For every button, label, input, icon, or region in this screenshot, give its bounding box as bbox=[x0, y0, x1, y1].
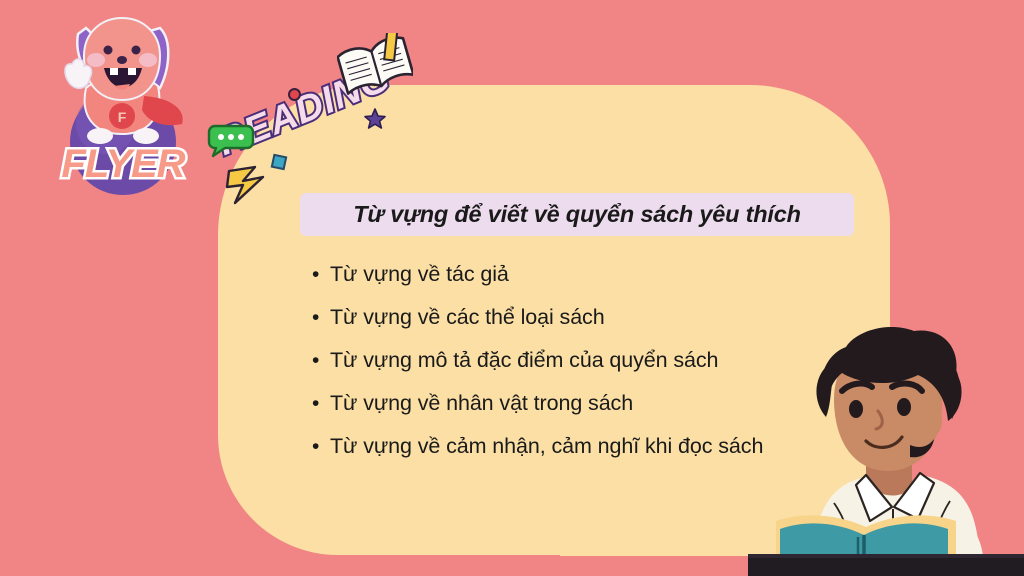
title-banner: Từ vựng để viết về quyển sách yêu thích bbox=[300, 193, 854, 236]
list-item-label: Từ vựng về các thể loại sách bbox=[330, 305, 605, 330]
list-item-label: Từ vựng về nhân vật trong sách bbox=[330, 391, 633, 416]
bullet-marker-icon: • bbox=[312, 436, 330, 457]
page-title: Từ vựng để viết về quyển sách yêu thích bbox=[353, 201, 801, 228]
desk-surface bbox=[748, 558, 1024, 576]
star-icon bbox=[364, 108, 386, 130]
bullet-marker-icon: • bbox=[312, 350, 330, 371]
bullet-marker-icon: • bbox=[312, 264, 330, 285]
list-item-label: Từ vựng mô tả đặc điểm của quyển sách bbox=[330, 348, 718, 373]
red-dot-icon bbox=[288, 88, 301, 101]
bullet-marker-icon: • bbox=[312, 393, 330, 414]
bullet-marker-icon: • bbox=[312, 307, 330, 328]
slide-canvas: Từ vựng để viết về quyển sách yêu thích … bbox=[0, 0, 1024, 576]
logo-wordmark: FLYER bbox=[61, 142, 185, 186]
list-item-label: Từ vựng về cảm nhận, cảm nghĩ khi đọc sá… bbox=[330, 434, 763, 459]
open-book-with-pencil-icon bbox=[337, 33, 413, 95]
lightning-bolt-icon bbox=[225, 165, 267, 205]
list-item-label: Từ vựng về tác giả bbox=[330, 262, 509, 287]
speech-bubble-icon bbox=[207, 122, 255, 160]
flyer-logo: F FLYER bbox=[48, 12, 198, 197]
mascot-badge-letter: F bbox=[118, 109, 127, 125]
blue-square-icon bbox=[271, 154, 288, 171]
boy-reading-illustration bbox=[770, 325, 1024, 576]
list-item: • Từ vựng về tác giả bbox=[312, 262, 872, 305]
